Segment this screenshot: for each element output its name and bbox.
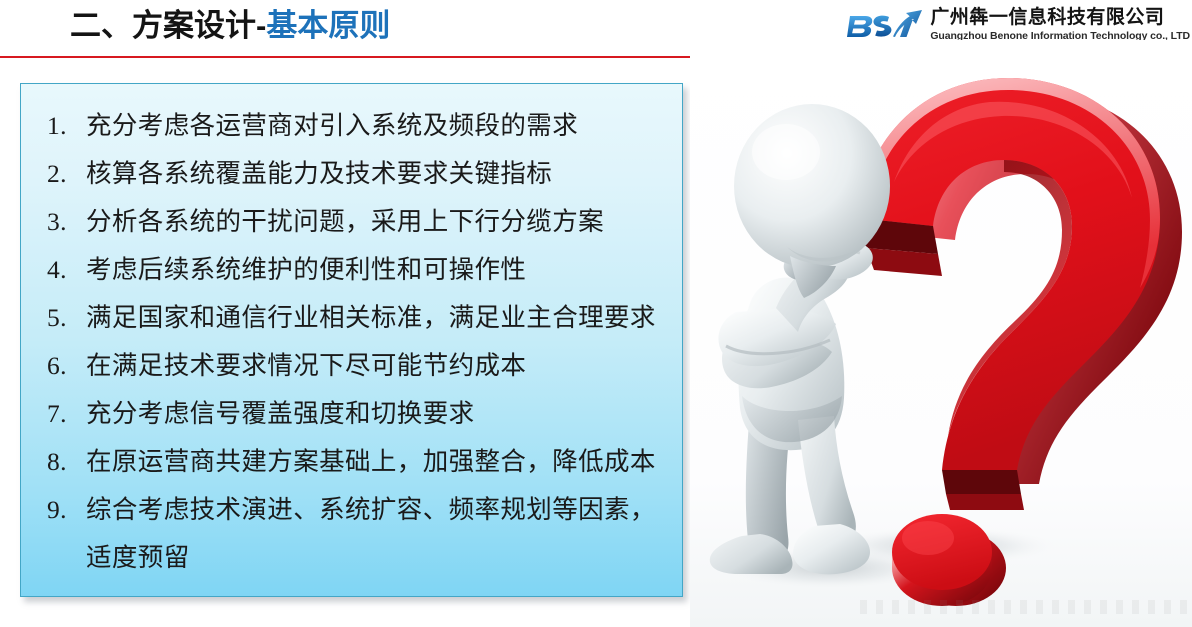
list-item: 6. 在满足技术要求情况下尽可能节约成本 [35,342,672,390]
slide-canvas: 二、方案设计-基本原则 [0,0,1192,627]
list-item-label: 综合考虑技术演进、系统扩容、频率规划等因素，适度预留 [81,486,672,582]
page-title-accent: 基本原则 [266,8,390,43]
page-title-main: 二、方案设计 [70,8,256,43]
list-item-number: 9. [35,486,81,534]
list-item-number: 8. [35,438,81,486]
question-mark-graphic-icon [690,40,1192,627]
list-item-number: 6. [35,342,81,390]
list-item: 4. 考虑后续系统维护的便利性和可操作性 [35,246,672,294]
list-item-number: 4. [35,246,81,294]
list-item-label: 在原运营商共建方案基础上，加强整合，降低成本 [81,438,672,486]
list-item-label: 满足国家和通信行业相关标准，满足业主合理要求 [81,294,672,342]
page-title: 二、方案设计-基本原则 [70,6,390,46]
list-item-label: 核算各系统覆盖能力及技术要求关键指标 [81,150,672,198]
list-item-number: 5. [35,294,81,342]
list-item: 9. 综合考虑技术演进、系统扩容、频率规划等因素，适度预留 [35,486,672,582]
list-item-label: 考虑后续系统维护的便利性和可操作性 [81,246,672,294]
list-item-number: 1. [35,102,81,150]
list-item: 2. 核算各系统覆盖能力及技术要求关键指标 [35,150,672,198]
list-item: 5. 满足国家和通信行业相关标准，满足业主合理要求 [35,294,672,342]
list-item-label: 充分考虑信号覆盖强度和切换要求 [81,390,672,438]
list-item: 1. 充分考虑各运营商对引入系统及频段的需求 [35,102,672,150]
bst-arrow-logo-icon [844,7,922,43]
company-name-cn: 广州犇一信息科技有限公司 [930,8,1190,27]
background-watermark [860,600,1190,614]
list-item-label: 分析各系统的干扰问题，采用上下行分缆方案 [81,198,672,246]
list-item: 7. 充分考虑信号覆盖强度和切换要求 [35,390,672,438]
list-item: 8. 在原运营商共建方案基础上，加强整合，降低成本 [35,438,672,486]
list-item-number: 7. [35,390,81,438]
list-item-number: 3. [35,198,81,246]
logo-text-block: 广州犇一信息科技有限公司 Guangzhou Benone Informatio… [930,8,1190,42]
page-title-separator: - [256,8,266,43]
principles-panel: 1. 充分考虑各运营商对引入系统及频段的需求 2. 核算各系统覆盖能力及技术要求… [20,83,683,597]
list-item-label: 充分考虑各运营商对引入系统及频段的需求 [81,102,672,150]
list-item: 3. 分析各系统的干扰问题，采用上下行分缆方案 [35,198,672,246]
principles-list: 1. 充分考虑各运营商对引入系统及频段的需求 2. 核算各系统覆盖能力及技术要求… [35,102,672,582]
list-item-number: 2. [35,150,81,198]
list-item-label: 在满足技术要求情况下尽可能节约成本 [81,342,672,390]
thinking-figure-illustration [690,40,1192,627]
